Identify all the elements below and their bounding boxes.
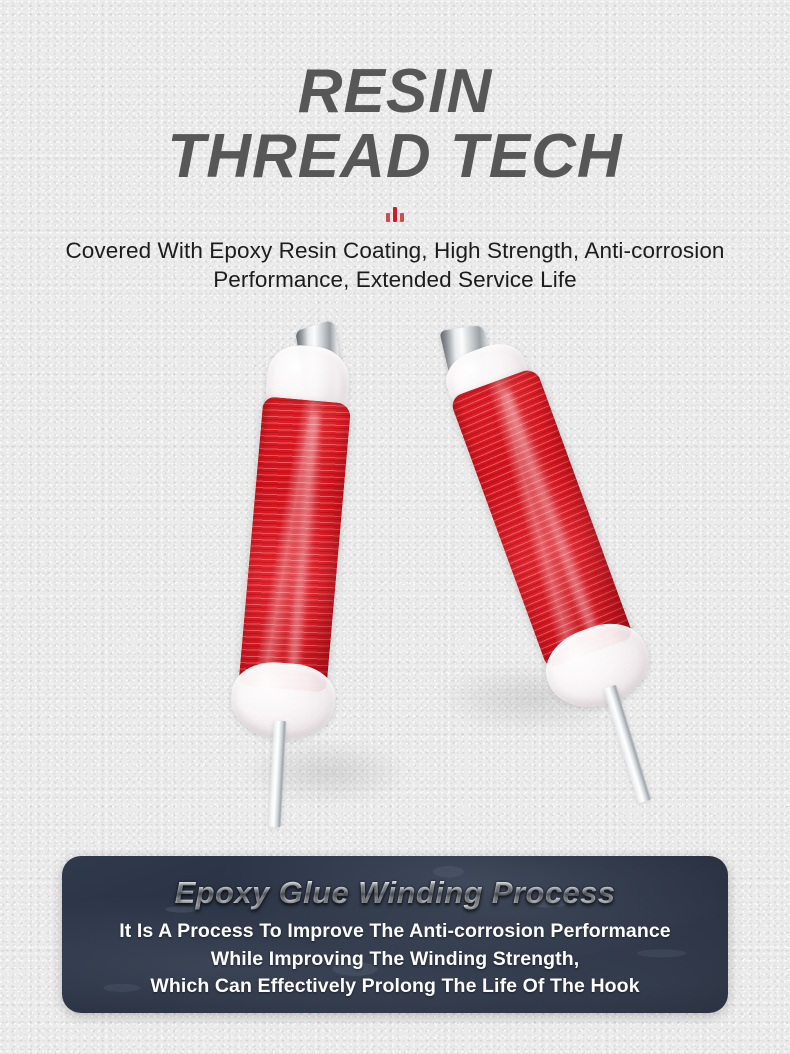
hook-left-thread-barrel — [238, 396, 351, 693]
hook-left — [227, 320, 397, 800]
triple-bar-divider-icon — [378, 206, 412, 222]
product-photo — [0, 312, 790, 857]
banner-body-line-1: It Is A Process To Improve The Anti-corr… — [62, 918, 728, 946]
product-feature-page: RESIN THREAD TECH Covered With Epoxy Res… — [0, 0, 790, 1054]
hook-right-shank-wire — [603, 685, 651, 804]
page-title-line-2: THREAD TECH — [0, 127, 790, 188]
divider-bar-left — [386, 213, 390, 222]
divider-bar-center — [393, 207, 397, 222]
page-title-line-1: RESIN — [0, 62, 790, 123]
page-subtitle-line-2: Performance, Extended Service Life — [0, 265, 790, 295]
banner-title: Epoxy Glue Winding Process — [62, 875, 728, 911]
header-section: RESIN THREAD TECH Covered With Epoxy Res… — [0, 0, 790, 295]
banner-body: It Is A Process To Improve The Anti-corr… — [62, 918, 728, 1001]
divider-bar-right — [400, 213, 404, 222]
page-subtitle-line-1: Covered With Epoxy Resin Coating, High S… — [0, 236, 790, 266]
page-subtitle: Covered With Epoxy Resin Coating, High S… — [0, 236, 790, 295]
process-banner: Epoxy Glue Winding Process It Is A Proce… — [62, 856, 728, 1013]
banner-body-line-3: Which Can Effectively Prolong The Life O… — [62, 973, 728, 1001]
banner-body-line-2: While Improving The Winding Strength, — [62, 946, 728, 974]
